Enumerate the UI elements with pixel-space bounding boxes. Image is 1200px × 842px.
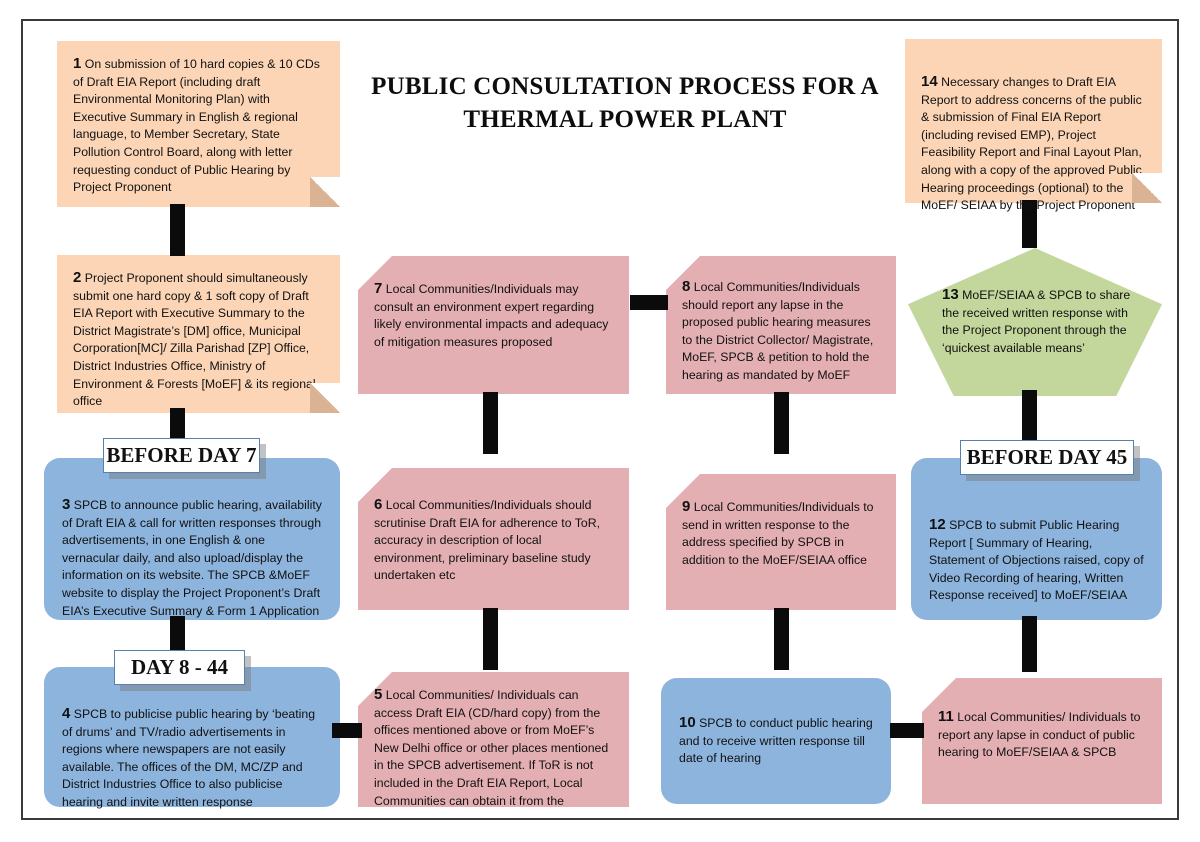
step-node-10[interactable]: 10 SPCB to conduct public hearing and to… (661, 678, 891, 804)
step-node-9[interactable]: 9 Local Communities/Individuals to send … (666, 474, 896, 610)
step-text-1: On submission of 10 hard copies & 10 CDs… (73, 57, 323, 194)
step-number-6: 6 (374, 496, 382, 513)
step-number-7: 7 (374, 280, 382, 297)
step-number-3: 3 (62, 496, 70, 513)
step-node-14[interactable]: 14 Necessary changes to Draft EIA Report… (905, 39, 1162, 203)
step-number-8: 8 (682, 278, 690, 295)
step-number-9: 9 (682, 498, 690, 515)
connector-7-to-8 (630, 295, 668, 310)
step-node-6[interactable]: 6 Local Communities/Individuals should s… (358, 468, 629, 610)
chart-title: PUBLIC CONSULTATION PROCESS FOR A THERMA… (350, 70, 900, 136)
step-number-14: 14 (921, 73, 938, 90)
step-number-11: 11 (938, 708, 954, 725)
step-text-7: Local Communities/Individuals may consul… (374, 282, 612, 349)
step-node-5[interactable]: 5 Local Communities/ Individuals can acc… (358, 672, 629, 807)
milestone-label: BEFORE DAY 45 (967, 445, 1128, 470)
connector-9-to-10 (774, 608, 789, 670)
milestone-label: BEFORE DAY 7 (106, 443, 256, 468)
connector-10-to-11 (890, 723, 924, 738)
flowchart-canvas: PUBLIC CONSULTATION PROCESS FOR A THERMA… (0, 0, 1200, 842)
step-node-1[interactable]: 1 On submission of 10 hard copies & 10 C… (57, 41, 340, 207)
milestone-day-8-44: DAY 8 - 44 (114, 650, 245, 685)
step-text-13: MoEF/SEIAA & SPCB to share the received … (942, 288, 1134, 355)
step-number-2: 2 (73, 269, 81, 286)
step-number-13: 13 (942, 286, 959, 303)
step-text-9: Local Communities/Individuals to send in… (682, 500, 877, 567)
step-text-5: Local Communities/ Individuals can acces… (374, 688, 612, 825)
step-number-12: 12 (929, 516, 946, 533)
connector-1-to-2 (170, 204, 185, 256)
step-text-2: Project Proponent should simultaneously … (73, 271, 319, 408)
milestone-before-day-45: BEFORE DAY 45 (960, 440, 1134, 475)
step-text-8: Local Communities/Individuals should rep… (682, 280, 877, 382)
milestone-label: DAY 8 - 44 (131, 655, 228, 680)
step-text-14: Necessary changes to Draft EIA Report to… (921, 75, 1145, 212)
connector-4-to-5 (332, 723, 362, 738)
step-text-3: SPCB to announce public hearing, availab… (62, 498, 325, 618)
step-node-11[interactable]: 11 Local Communities/ Individuals to rep… (922, 678, 1162, 804)
step-node-8[interactable]: 8 Local Communities/Individuals should r… (666, 256, 896, 394)
step-node-4[interactable]: 4 SPCB to publicise public hearing by ‘b… (44, 667, 340, 807)
step-text-4: SPCB to publicise public hearing by ‘bea… (62, 707, 319, 809)
step-node-2[interactable]: 2 Project Proponent should simultaneousl… (57, 255, 340, 413)
step-number-1: 1 (73, 55, 81, 72)
connector-11-to-12 (1022, 616, 1037, 672)
connector-8-to-9 (774, 392, 789, 454)
connector-6-to-7 (483, 392, 498, 454)
step-text-6: Local Communities/Individuals should scr… (374, 498, 603, 582)
milestone-before-day-7: BEFORE DAY 7 (103, 438, 260, 473)
step-text-11: Local Communities/ Individuals to report… (938, 710, 1144, 759)
step-number-10: 10 (679, 714, 696, 731)
step-text-12: SPCB to submit Public Hearing Report [ S… (929, 518, 1147, 602)
step-node-3[interactable]: 3 SPCB to announce public hearing, avail… (44, 458, 340, 620)
step-text-10: SPCB to conduct public hearing and to re… (679, 716, 876, 765)
step-node-12[interactable]: 12 SPCB to submit Public Hearing Report … (911, 458, 1162, 620)
step-number-4: 4 (62, 705, 70, 722)
connector-5-to-6 (483, 608, 498, 670)
step-node-7[interactable]: 7 Local Communities/Individuals may cons… (358, 256, 629, 394)
